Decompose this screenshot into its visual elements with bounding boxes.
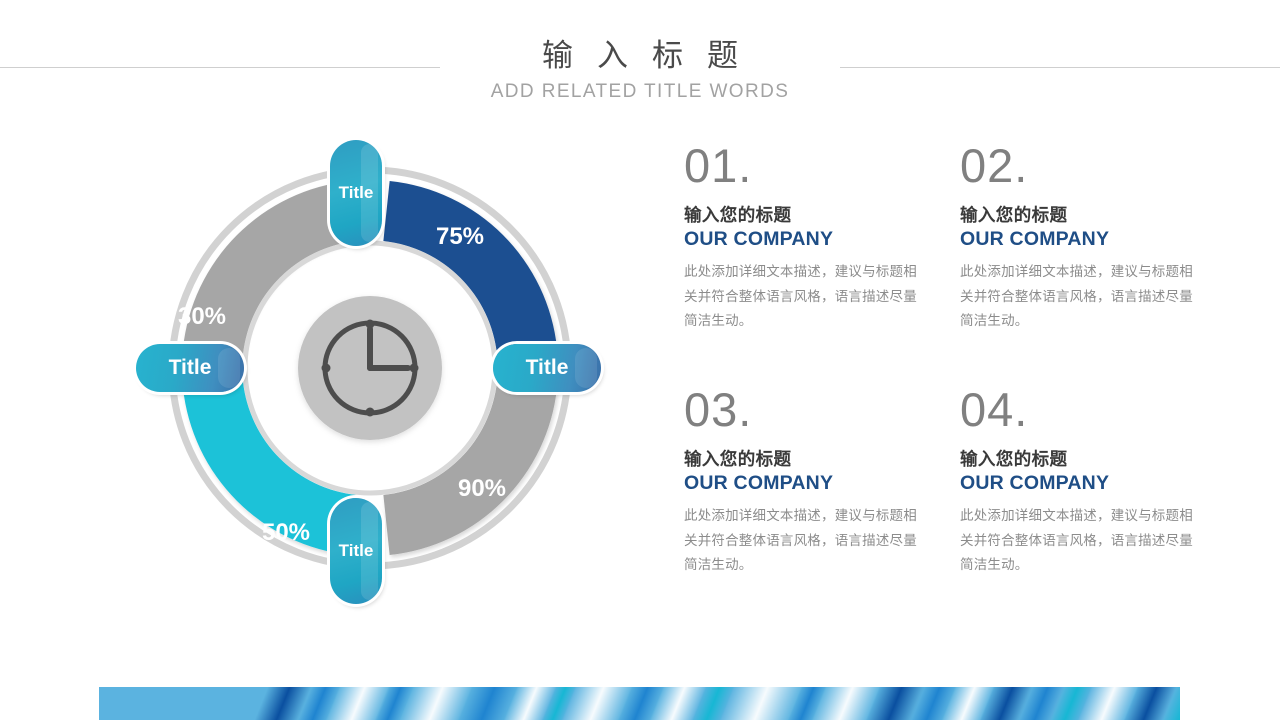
slide-header: 输入标题 ADD RELATED TITLE WORDS <box>0 0 1280 120</box>
donut-label-90: 90% <box>458 475 506 502</box>
donut-pill-right-label: Title <box>522 357 573 379</box>
page-subtitle: ADD RELATED TITLE WORDS <box>0 82 1280 101</box>
bottom-decoration-bar <box>99 687 1180 720</box>
content-block-04: 04. 输入您的标题 OUR COMPANY 此处添加详细文本描述，建议与标题相… <box>960 386 1196 578</box>
block-heading-en: OUR COMPANY <box>684 227 920 252</box>
bottom-decoration-streaks <box>99 687 1180 720</box>
block-body: 此处添加详细文本描述，建议与标题相关并符合整体语言风格，语言描述尽量简洁生动。 <box>960 504 1196 578</box>
donut-label-75: 75% <box>436 223 484 250</box>
block-heading-en: OUR COMPANY <box>960 471 1196 496</box>
donut-pill-bottom[interactable]: Title <box>330 498 382 604</box>
block-heading-en: OUR COMPANY <box>684 471 920 496</box>
block-body: 此处添加详细文本描述，建议与标题相关并符合整体语言风格，语言描述尽量简洁生动。 <box>684 260 920 334</box>
block-heading-en: OUR COMPANY <box>960 227 1196 252</box>
slide-canvas: 输入标题 ADD RELATED TITLE WORDS <box>0 0 1280 720</box>
block-heading-cn: 输入您的标题 <box>684 205 920 227</box>
donut-pill-left[interactable]: Title <box>136 344 244 392</box>
pill-sheen <box>218 348 240 388</box>
block-number: 02. <box>960 142 1196 189</box>
pill-sheen <box>575 348 597 388</box>
block-number: 03. <box>684 386 920 433</box>
block-heading-cn: 输入您的标题 <box>684 449 920 471</box>
page-title: 输入标题 <box>0 40 1280 71</box>
donut-label-50: 50% <box>262 519 310 546</box>
block-number: 04. <box>960 386 1196 433</box>
donut-pill-top[interactable]: Title <box>330 140 382 246</box>
block-heading-cn: 输入您的标题 <box>960 449 1196 471</box>
donut-pill-right[interactable]: Title <box>493 344 601 392</box>
block-number: 01. <box>684 142 920 189</box>
donut-pill-top-label: Title <box>335 184 378 202</box>
donut-pill-bottom-label: Title <box>335 542 378 560</box>
donut-label-30: 30% <box>178 303 226 330</box>
block-heading-cn: 输入您的标题 <box>960 205 1196 227</box>
block-body: 此处添加详细文本描述，建议与标题相关并符合整体语言风格，语言描述尽量简洁生动。 <box>960 260 1196 334</box>
block-body: 此处添加详细文本描述，建议与标题相关并符合整体语言风格，语言描述尽量简洁生动。 <box>684 504 920 578</box>
content-block-03: 03. 输入您的标题 OUR COMPANY 此处添加详细文本描述，建议与标题相… <box>684 386 920 578</box>
donut-pill-left-label: Title <box>165 357 216 379</box>
content-block-01: 01. 输入您的标题 OUR COMPANY 此处添加详细文本描述，建议与标题相… <box>684 142 920 334</box>
content-block-02: 02. 输入您的标题 OUR COMPANY 此处添加详细文本描述，建议与标题相… <box>960 142 1196 334</box>
